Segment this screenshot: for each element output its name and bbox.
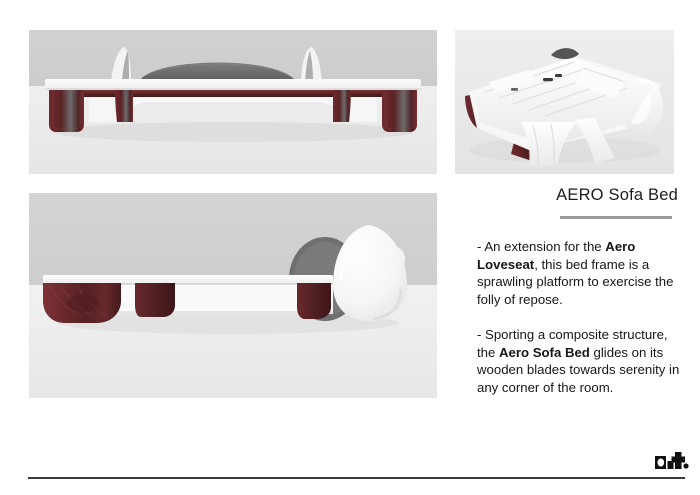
- slide-canvas: AERO Sofa Bed - An extension for the Aer…: [0, 0, 700, 495]
- description-text: - An extension for the Aero Loveseat, th…: [477, 238, 687, 396]
- emphasis-text: Aero Sofa Bed: [499, 345, 590, 360]
- side-profile-artwork: [29, 193, 437, 398]
- description-paragraph-1: - An extension for the Aero Loveseat, th…: [477, 238, 687, 308]
- render-angled-made-bed: [455, 30, 674, 174]
- render-side-profile: [29, 193, 437, 398]
- angled-bed-artwork: [455, 30, 674, 174]
- description-paragraph-2: - Sporting a composite structure, the Ae…: [477, 326, 687, 396]
- title-divider: [560, 216, 672, 219]
- body-text: - An extension for the: [477, 239, 605, 254]
- footer-divider: [28, 477, 685, 479]
- render-front-view: [29, 30, 437, 174]
- page-title: AERO Sofa Bed: [455, 186, 678, 205]
- front-view-artwork: [29, 30, 437, 174]
- studio-logo[interactable]: [655, 452, 689, 475]
- studio-logo-mark: [655, 452, 689, 475]
